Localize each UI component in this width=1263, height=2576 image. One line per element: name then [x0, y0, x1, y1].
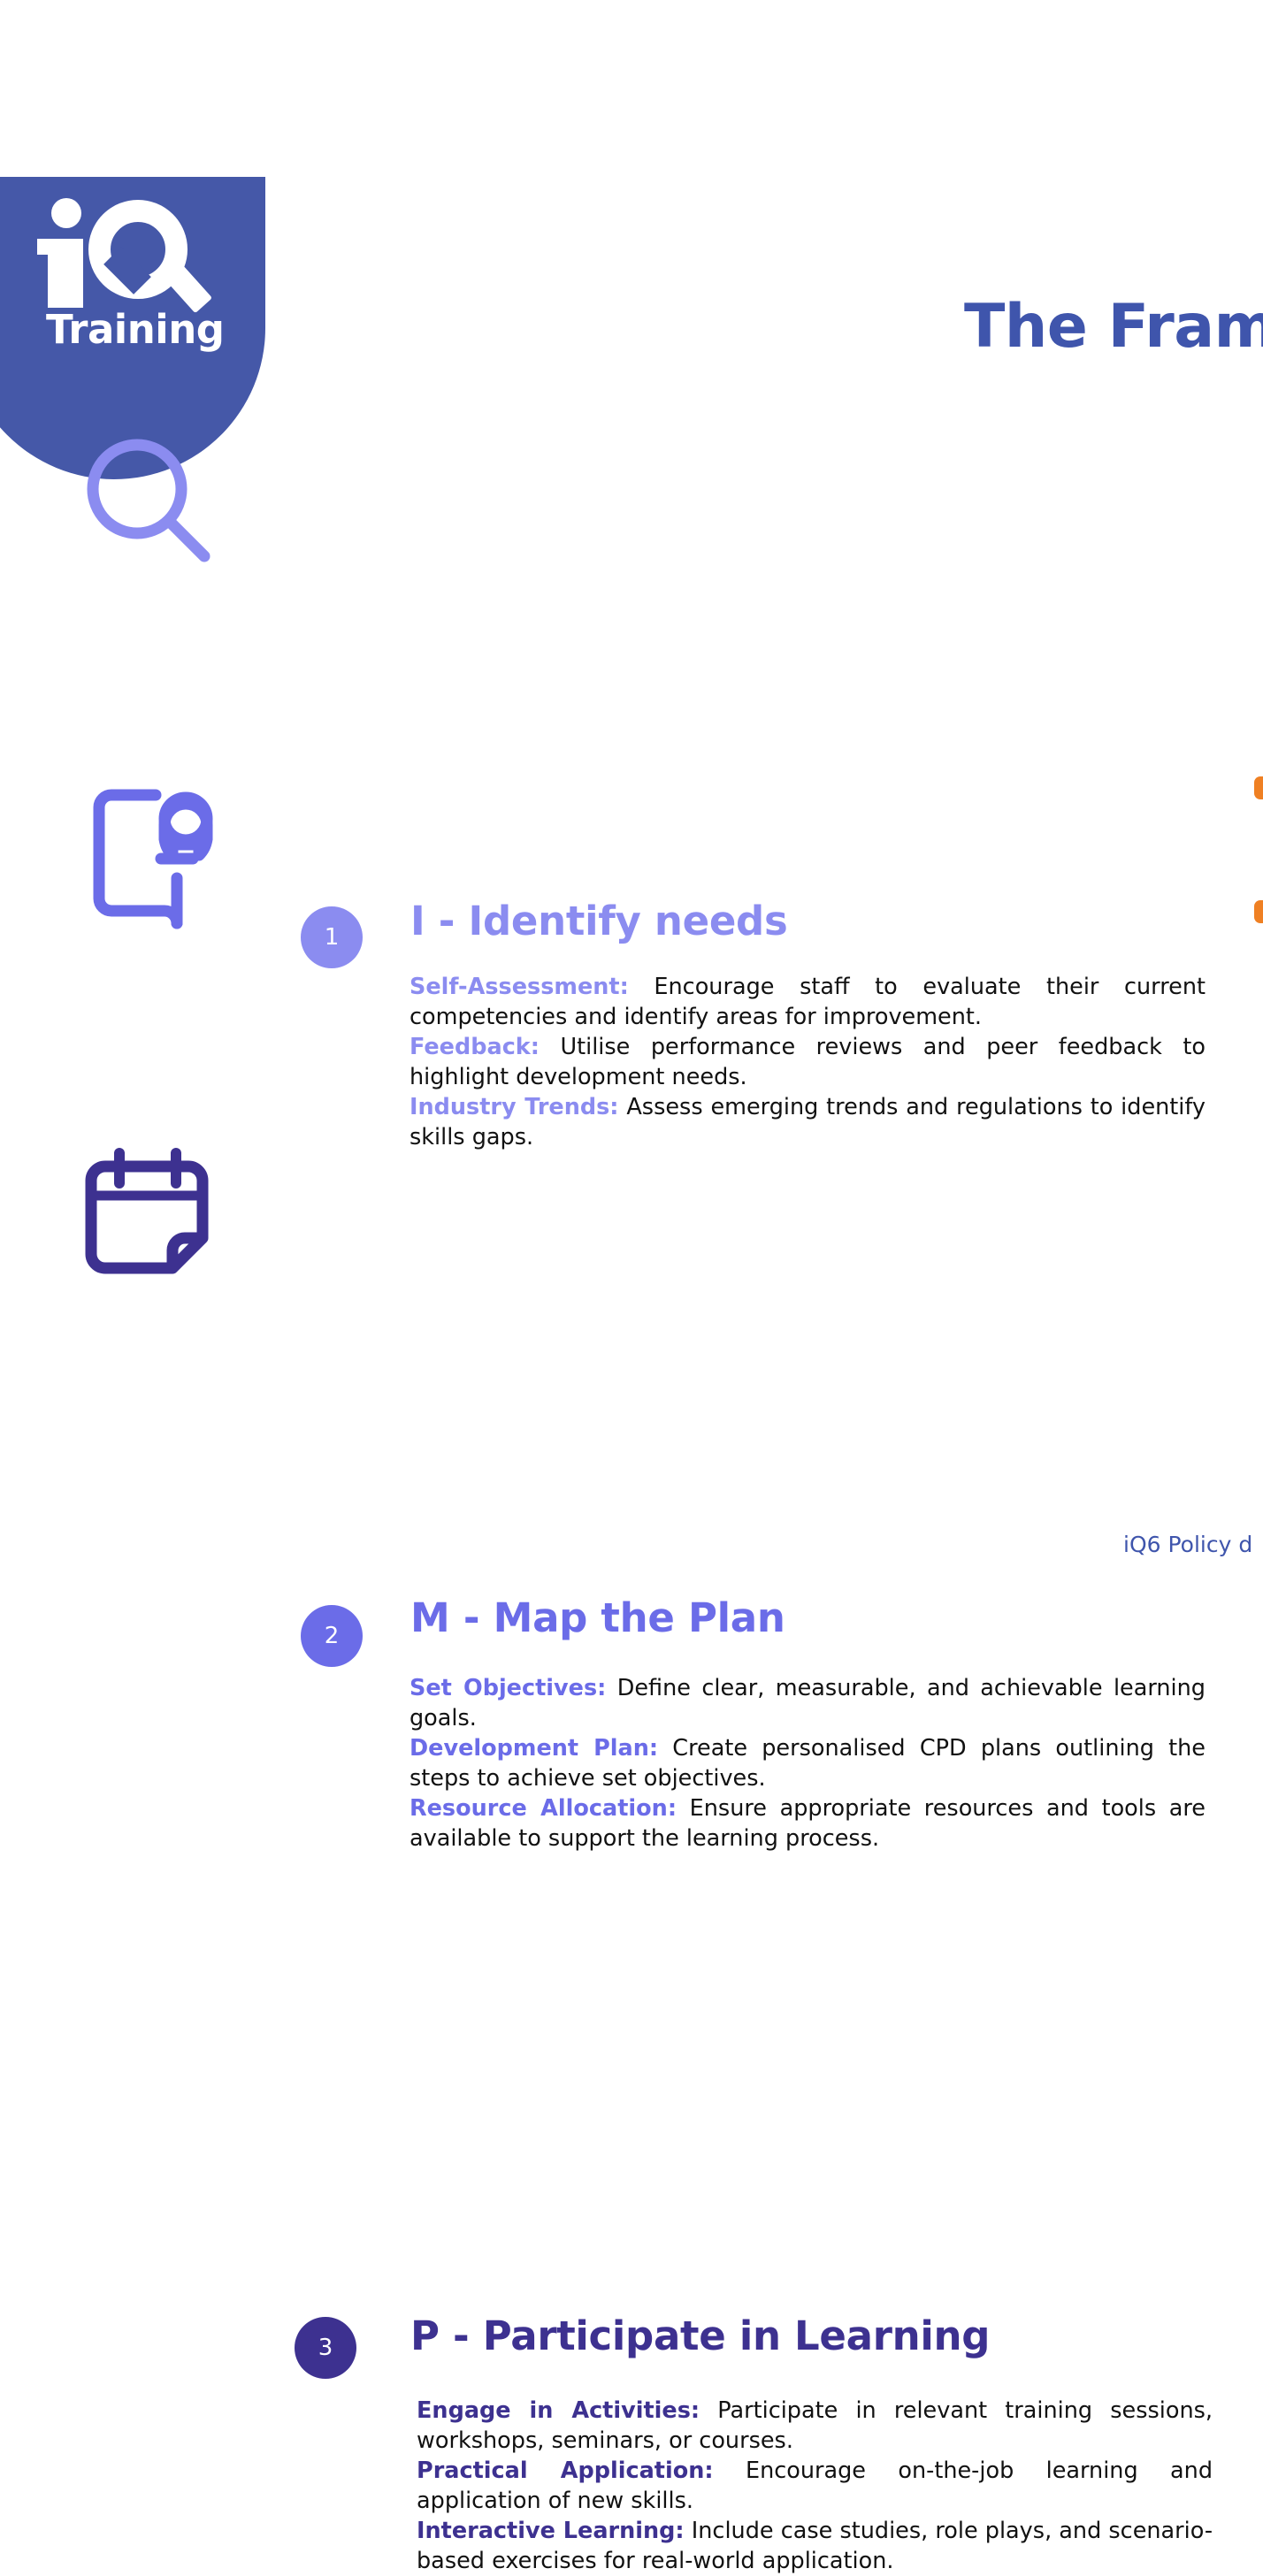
- step-item-label: Development Plan:: [410, 1735, 658, 1762]
- step-item-label: Self-Assessment:: [410, 974, 629, 1000]
- step-item: Engage in Activities: Participate in rel…: [417, 2396, 1213, 2457]
- logo-i-dot: [51, 198, 81, 228]
- step-body: Set Objectives: Define clear, measurable…: [410, 1674, 1206, 1854]
- step-item: Development Plan: Create personalised CP…: [410, 1734, 1206, 1794]
- edge-accent-mark: [1254, 776, 1263, 799]
- iq-mark-icon: [46, 193, 214, 308]
- logo-i-stem: [48, 239, 83, 308]
- magnifier-icon: [75, 433, 234, 575]
- step-heading-text: P - Participate in Learning: [410, 2312, 990, 2359]
- step-item-label: Practical Application:: [417, 2458, 714, 2484]
- step-number-label: 3: [318, 2335, 333, 2361]
- step-item-label: Feedback:: [410, 1034, 540, 1060]
- step-number-label: 2: [325, 1623, 340, 1649]
- step-heading: P - Participate in Learning: [410, 2312, 990, 2359]
- step-item: Self-Assessment: Encourage staff to eval…: [410, 973, 1206, 1033]
- step-number-badge: 2: [301, 1605, 363, 1667]
- logo-wordmark: Training: [46, 306, 224, 353]
- step-body: Self-Assessment: Encourage staff to eval…: [410, 973, 1206, 1152]
- step-number-badge: 3: [295, 2317, 356, 2379]
- step-item-label: Industry Trends:: [410, 1094, 618, 1120]
- step-item: Feedback: Utilise performance reviews an…: [410, 1033, 1206, 1093]
- step-item: Practical Application: Encourage on-the-…: [417, 2457, 1213, 2517]
- calendar-icon: [75, 1141, 234, 1282]
- step-item: Resource Allocation: Ensure appropriate …: [410, 1794, 1206, 1854]
- step-body: Engage in Activities: Participate in rel…: [417, 2396, 1213, 2576]
- step-number-label: 1: [325, 924, 340, 951]
- step-item: Industry Trends: Assess emerging trends …: [410, 1093, 1206, 1153]
- step-heading: M - Map the Plan: [410, 1594, 785, 1641]
- step-item-label: Set Objectives:: [410, 1675, 606, 1701]
- step-heading-text: M - Map the Plan: [410, 1594, 785, 1641]
- step-heading-text: I - Identify needs: [410, 898, 787, 944]
- step-heading: I - Identify needs: [410, 898, 787, 944]
- logo-inner: Training: [46, 193, 214, 387]
- edge-accent-mark: [1254, 900, 1263, 923]
- step-item: Interactive Learning: Include case studi…: [417, 2517, 1213, 2576]
- step-item-label: Engage in Activities:: [417, 2397, 700, 2424]
- plan-lightbulb-icon: [80, 783, 239, 924]
- step-item-label: Resource Allocation:: [410, 1795, 677, 1822]
- step-number-badge: 1: [301, 906, 363, 968]
- page-title: The Framework: [964, 292, 1263, 362]
- step-item-label: Interactive Learning:: [417, 2518, 685, 2544]
- footer-label: iQ6 Policy d: [1123, 1532, 1252, 1557]
- step-item: Set Objectives: Define clear, measurable…: [410, 1674, 1206, 1734]
